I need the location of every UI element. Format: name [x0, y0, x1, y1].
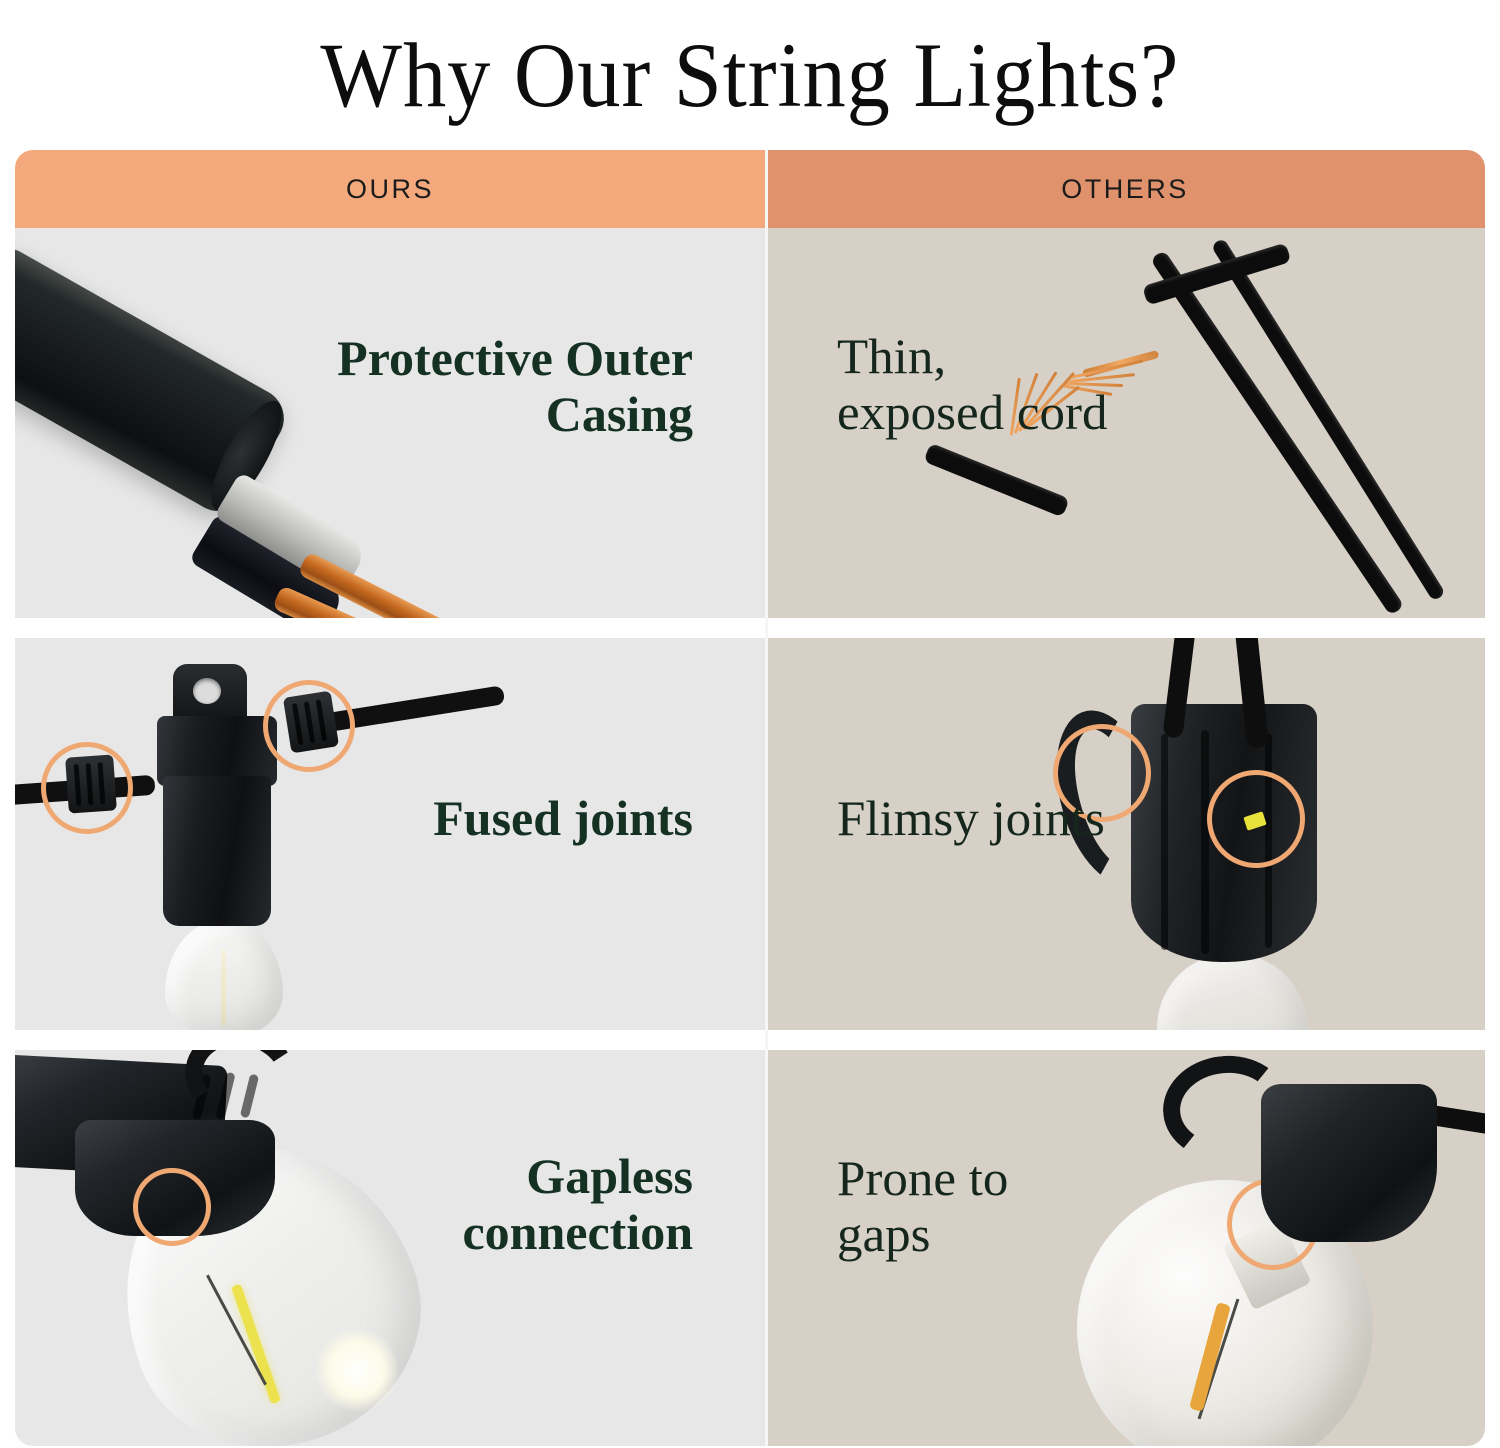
highlight-ring-joint-left	[41, 742, 133, 834]
label-line-2: Casing	[546, 386, 693, 442]
column-header-others: OTHERS	[765, 150, 1485, 228]
column-header-ours: OURS	[15, 150, 765, 228]
comparison-infographic: Why Our String Lights? OURS OTHERS	[0, 0, 1500, 1448]
filament-glow	[315, 1328, 399, 1412]
highlight-ring-wire-gap	[1207, 770, 1305, 868]
table-header-row: OURS OTHERS	[15, 150, 1485, 228]
label-line-1: Gapless	[526, 1148, 693, 1204]
label-ours-joints: Fused joints	[433, 790, 693, 846]
thin-cord-broken-lower-end	[923, 443, 1070, 518]
comparison-row-joints: Fused joints	[15, 638, 1485, 1030]
label-line-1: Prone to	[837, 1150, 1008, 1206]
label-ours-casing: Protective Outer Casing	[337, 330, 693, 442]
comparison-row-casing: Protective Outer Casing	[15, 228, 1485, 618]
cell-ours-casing: Protective Outer Casing	[15, 228, 765, 618]
comparison-table: OURS OTHERS Protective Outer C	[15, 150, 1485, 1446]
label-line-1: Thin,	[837, 328, 946, 384]
label-line-1: Protective Outer	[337, 330, 693, 386]
label-line-2: gaps	[837, 1206, 930, 1262]
socket-barrel	[163, 776, 271, 926]
label-others-connection: Prone to gaps	[837, 1150, 1008, 1262]
flimsy-bulb-top	[1157, 954, 1307, 1030]
comparison-row-connection: Gapless connection	[15, 1050, 1485, 1446]
label-others-casing: Thin, exposed cord	[837, 328, 1107, 440]
loop-hole	[193, 678, 221, 704]
cell-others-casing: Thin, exposed cord	[765, 228, 1485, 618]
cell-ours-connection: Gapless connection	[15, 1050, 765, 1446]
thin-cord-intact-2	[1211, 238, 1446, 602]
highlight-ring-joint-right	[263, 680, 355, 772]
page-title-container: Why Our String Lights?	[0, 0, 1500, 150]
label-line-2: exposed cord	[837, 384, 1107, 440]
cell-others-connection: Prone to gaps	[765, 1050, 1485, 1446]
socket-ridge-1	[1161, 734, 1168, 950]
row-spacer-2	[15, 1030, 1485, 1050]
label-ours-connection: Gapless connection	[462, 1148, 693, 1260]
label-others-joints: Flimsy joints	[837, 790, 1105, 846]
row-spacer-1	[15, 618, 1485, 638]
label-line-2: connection	[462, 1204, 693, 1260]
socket-ridge-2	[1201, 730, 1209, 954]
flimsy-socket-body	[1261, 1084, 1437, 1242]
page-title: Why Our String Lights?	[321, 29, 1180, 121]
label-line-1: Flimsy joints	[837, 790, 1105, 846]
highlight-ring-gapless-seam	[133, 1168, 211, 1246]
cell-ours-joints: Fused joints	[15, 638, 765, 1030]
label-line-1: Fused joints	[433, 790, 693, 846]
bulb-s14	[165, 920, 283, 1030]
cell-others-joints: Flimsy joints	[765, 638, 1485, 1030]
thin-cord-intact-1	[1150, 250, 1405, 616]
socket-hanging-loop	[173, 664, 247, 724]
